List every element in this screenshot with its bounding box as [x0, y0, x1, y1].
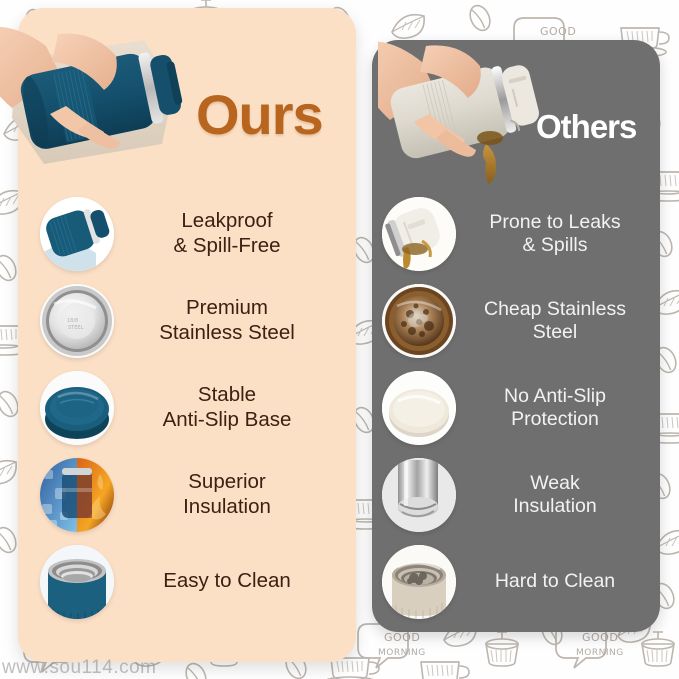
ours-hero-image: [0, 18, 224, 178]
drawback-label-cheap-steel: Cheap Stainless Steel: [456, 298, 654, 344]
thin-steel-wall-icon: [382, 458, 456, 532]
drawback-label-prone-to-leaks: Prone to Leaks & Spills: [456, 211, 654, 257]
feature-label-leakproof: Leakproof & Spill-Free: [114, 209, 340, 257]
drawback-label-no-anti-slip: No Anti-Slip Protection: [456, 385, 654, 431]
drawback-row-prone-to-leaks: Prone to Leaks & Spills: [382, 190, 654, 277]
drawback-row-weak-insulation: Weak Insulation: [382, 451, 654, 538]
infographic-canvas: GOOD MORNING: [0, 0, 679, 679]
drawback-row-no-anti-slip: No Anti-Slip Protection: [382, 364, 654, 451]
grimy-threaded-opening-icon: [382, 545, 456, 619]
stainless-interior-base-icon: 18/8 STEEL: [40, 284, 114, 358]
hot-cold-insulation-icon: [40, 458, 114, 532]
feature-row-easy-to-clean: Easy to Clean: [40, 538, 340, 625]
drawback-label-weak-insulation: Weak Insulation: [456, 472, 654, 518]
drawback-label-hard-to-clean: Hard to Clean: [456, 570, 654, 593]
feature-label-easy-to-clean: Easy to Clean: [114, 569, 340, 593]
plain-beige-base-icon: [382, 371, 456, 445]
feature-row-anti-slip-base: Stable Anti-Slip Base: [40, 364, 340, 451]
feature-label-anti-slip-base: Stable Anti-Slip Base: [114, 383, 340, 431]
others-title: Others: [536, 108, 636, 146]
teal-lid-closeup-icon: [40, 197, 114, 271]
feature-row-premium-steel: 18/8 STEEL Premium Stainless Steel: [40, 277, 340, 364]
wide-mouth-opening-icon: [40, 545, 114, 619]
drawback-row-hard-to-clean: Hard to Clean: [382, 538, 654, 625]
others-hero-image: [378, 36, 558, 196]
leaking-white-lid-icon: [382, 197, 456, 271]
feature-row-leakproof: Leakproof & Spill-Free: [40, 190, 340, 277]
teal-bottom-base-icon: [40, 371, 114, 445]
rusty-stained-base-icon: [382, 284, 456, 358]
svg-text:STEEL: STEEL: [68, 325, 84, 331]
watermark: www.sou114.com: [2, 657, 157, 679]
feature-label-premium-steel: Premium Stainless Steel: [114, 296, 340, 344]
drawback-row-cheap-steel: Cheap Stainless Steel: [382, 277, 654, 364]
ours-feature-list: Leakproof & Spill-Free: [40, 190, 340, 625]
svg-text:18/8: 18/8: [67, 318, 78, 324]
feature-label-superior-insulation: Superior Insulation: [114, 470, 340, 518]
ours-title: Ours: [196, 82, 323, 147]
feature-row-superior-insulation: Superior Insulation: [40, 451, 340, 538]
others-feature-list: Prone to Leaks & Spills: [382, 190, 654, 625]
